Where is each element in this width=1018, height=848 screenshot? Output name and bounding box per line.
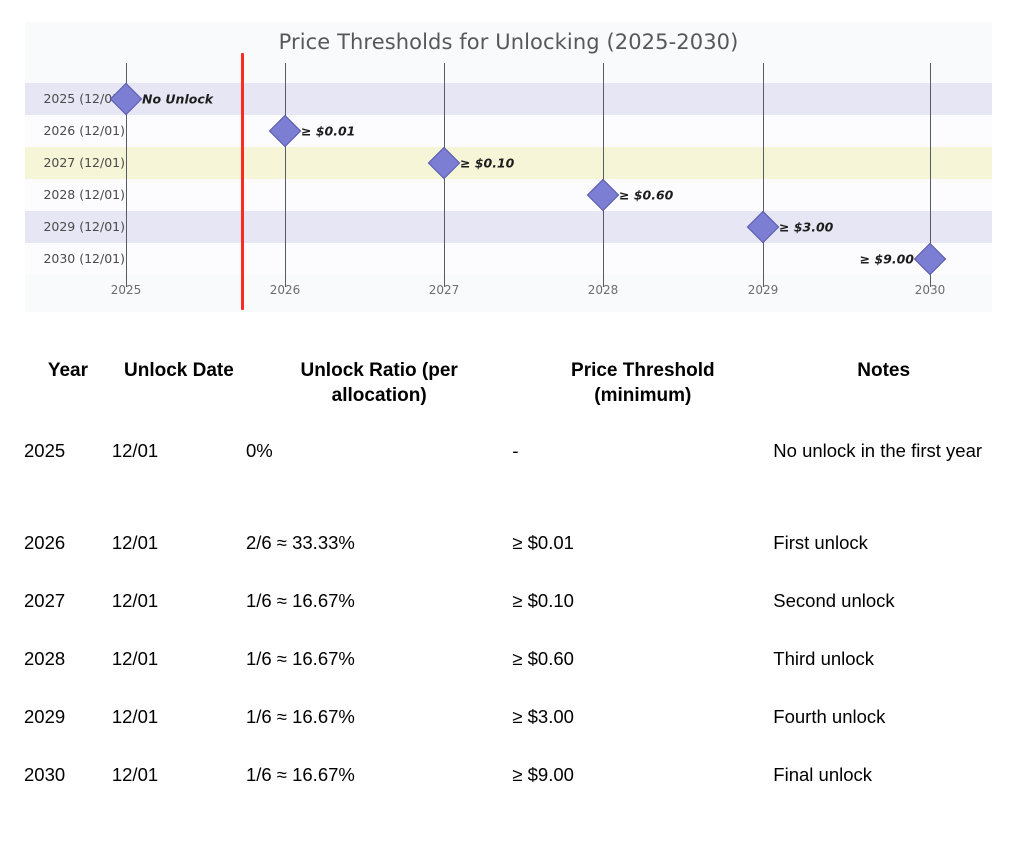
column-header-year: Year	[24, 352, 112, 430]
cell-year: 2028	[24, 638, 112, 696]
chart-title: Price Thresholds for Unlocking (2025-203…	[25, 30, 992, 54]
cell-year: 2027	[24, 580, 112, 638]
cell-price: ≥ $3.00	[512, 696, 773, 754]
table-row: 2025 12/01 0% - No unlock in the first y…	[24, 430, 994, 522]
price-threshold-chart: Price Thresholds for Unlocking (2025-203…	[25, 22, 992, 312]
column-header-unlock-date: Unlock Date	[112, 352, 246, 430]
row-band-2030	[25, 243, 992, 275]
cell-date: 12/01	[112, 638, 246, 696]
cell-date: 12/01	[112, 522, 246, 580]
today-marker-line	[241, 53, 244, 310]
cell-date: 12/01	[112, 754, 246, 812]
cell-price: ≥ $0.01	[512, 522, 773, 580]
gridline-2026	[285, 63, 286, 287]
cell-notes: Second unlock	[773, 580, 994, 638]
cell-notes: Fourth unlock	[773, 696, 994, 754]
row-band-2026	[25, 115, 992, 147]
marker-label-2028: ≥ $0.60	[619, 188, 673, 203]
marker-label-2026: ≥ $0.01	[301, 124, 355, 139]
xtick-2027: 2027	[429, 283, 460, 297]
cell-price: ≥ $0.10	[512, 580, 773, 638]
xtick-2026: 2026	[270, 283, 301, 297]
cell-year: 2026	[24, 522, 112, 580]
row-label-2029: 2029 (12/01)	[33, 211, 125, 243]
cell-notes: No unlock in the first year	[773, 430, 994, 522]
table-row: 2029 12/01 1/6 ≈ 16.67% ≥ $3.00 Fourth u…	[24, 696, 994, 754]
cell-year: 2025	[24, 430, 112, 522]
xtick-2028: 2028	[588, 283, 619, 297]
cell-price: ≥ $0.60	[512, 638, 773, 696]
cell-price: ≥ $9.00	[512, 754, 773, 812]
cell-date: 12/01	[112, 430, 246, 522]
cell-date: 12/01	[112, 696, 246, 754]
xtick-2030: 2030	[915, 283, 946, 297]
gridline-2029	[763, 63, 764, 287]
row-label-2030: 2030 (12/01)	[33, 243, 125, 275]
cell-ratio: 2/6 ≈ 33.33%	[246, 522, 512, 580]
cell-ratio: 0%	[246, 430, 512, 522]
row-label-2028: 2028 (12/01)	[33, 179, 125, 211]
cell-notes: First unlock	[773, 522, 994, 580]
cell-price: -	[512, 430, 773, 522]
cell-year: 2030	[24, 754, 112, 812]
cell-ratio: 1/6 ≈ 16.67%	[246, 696, 512, 754]
marker-label-2029: ≥ $3.00	[779, 220, 833, 235]
column-header-notes: Notes	[773, 352, 994, 430]
marker-label-2030: ≥ $9.00	[860, 252, 914, 267]
row-label-2027: 2027 (12/01)	[33, 147, 125, 179]
cell-ratio: 1/6 ≈ 16.67%	[246, 754, 512, 812]
table-row: 2028 12/01 1/6 ≈ 16.67% ≥ $0.60 Third un…	[24, 638, 994, 696]
cell-notes: Third unlock	[773, 638, 994, 696]
table-row: 2026 12/01 2/6 ≈ 33.33% ≥ $0.01 First un…	[24, 522, 994, 580]
table-row: 2030 12/01 1/6 ≈ 16.67% ≥ $9.00 Final un…	[24, 754, 994, 812]
cell-notes: Final unlock	[773, 754, 994, 812]
cell-ratio: 1/6 ≈ 16.67%	[246, 638, 512, 696]
cell-year: 2029	[24, 696, 112, 754]
row-band-2029	[25, 211, 992, 243]
cell-ratio: 1/6 ≈ 16.67%	[246, 580, 512, 638]
xtick-2025: 2025	[111, 283, 142, 297]
xtick-2029: 2029	[748, 283, 779, 297]
cell-date: 12/01	[112, 580, 246, 638]
table-row: 2027 12/01 1/6 ≈ 16.67% ≥ $0.10 Second u…	[24, 580, 994, 638]
column-header-price-threshold: Price Threshold (minimum)	[512, 352, 773, 430]
row-band-2028	[25, 179, 992, 211]
marker-label-2025: No Unlock	[142, 92, 213, 107]
unlock-schedule-table: Year Unlock Date Unlock Ratio (per alloc…	[24, 352, 994, 812]
table-header-row: Year Unlock Date Unlock Ratio (per alloc…	[24, 352, 994, 430]
gridline-2028	[603, 63, 604, 287]
marker-label-2027: ≥ $0.10	[460, 156, 514, 171]
column-header-unlock-ratio: Unlock Ratio (per allocation)	[246, 352, 512, 430]
row-label-2026: 2026 (12/01)	[33, 115, 125, 147]
